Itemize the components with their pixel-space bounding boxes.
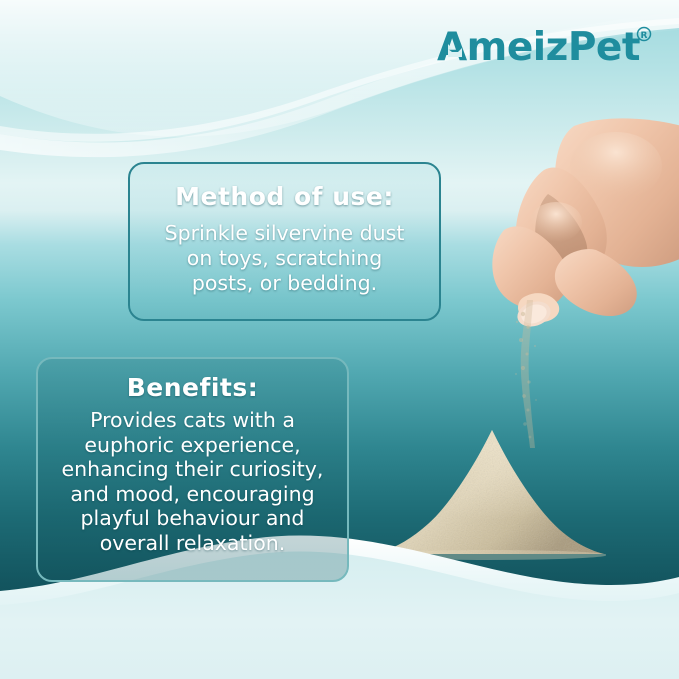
svg-text:R: R <box>641 31 648 41</box>
card-method-body: Sprinkle silvervine dust on toys, scratc… <box>165 221 405 296</box>
card-benefits-title: Benefits: <box>127 373 259 402</box>
product-info-poster: AmeizPet R <box>0 0 679 679</box>
card-method-of-use: Method of use: Sprinkle silvervine dust … <box>128 162 441 321</box>
brand-logo: AmeizPet R <box>437 24 662 72</box>
card-method-title: Method of use: <box>175 182 394 211</box>
card-benefits-body: Provides cats with a euphoric experience… <box>62 408 324 556</box>
card-benefits: Benefits: Provides cats with a euphoric … <box>36 357 349 582</box>
brand-wordmark: AmeizPet <box>437 25 640 70</box>
